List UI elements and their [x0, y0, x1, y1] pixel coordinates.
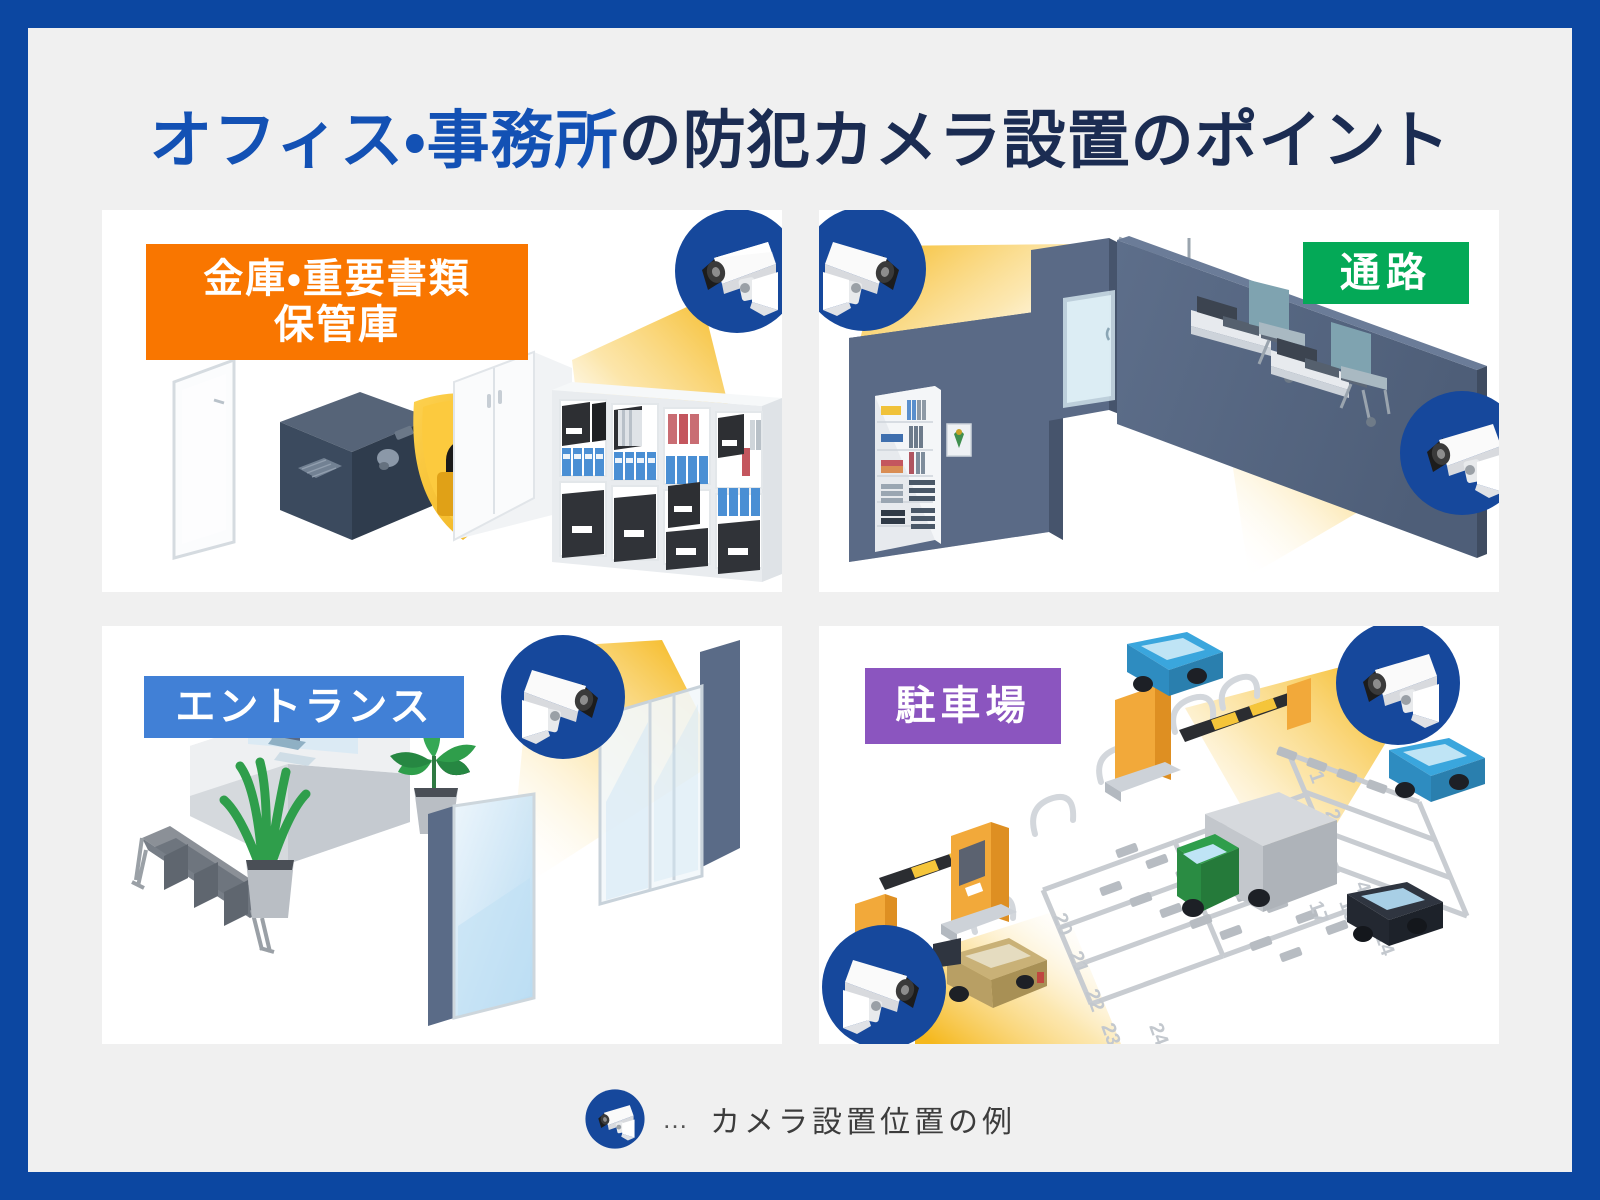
parking-number-24: 24 [1144, 1020, 1173, 1044]
glass-door [174, 360, 234, 558]
page-title-accent: オフィス・事務所 [149, 106, 618, 176]
panel-parking[interactable]: 1 2 4 14 16 17 16 19 20 21 22 23 24 [819, 626, 1499, 1044]
legend-camera-badge [584, 1088, 646, 1150]
infographic-frame: オフィス・事務所の防犯カメラ設置のポイント [28, 28, 1572, 1172]
safe-box [280, 392, 432, 540]
delivery-truck [1177, 792, 1337, 917]
camera-badge-corridor-right[interactable] [1397, 388, 1499, 518]
page-title: オフィス・事務所の防犯カメラ設置のポイント [28, 90, 1572, 181]
tag-safe-line1: 金庫・重要書類 [203, 256, 471, 302]
page-title-rest: の防犯カメラ設置のポイント [619, 106, 1451, 176]
glass-partition [428, 794, 534, 1026]
tag-corridor: 通路 [1303, 242, 1469, 304]
panel-corridor[interactable]: 通路 [819, 210, 1499, 592]
camera-badge-safe[interactable] [672, 210, 782, 336]
legend: … カメラ設置位置の例 [28, 1088, 1572, 1150]
tag-parking: 駐車場 [865, 668, 1061, 744]
car-dark-parked [1347, 882, 1443, 946]
ticket-machine [941, 822, 1017, 944]
camera-badge-parking-upper[interactable] [1333, 626, 1463, 748]
corridor-bookshelf [875, 386, 941, 552]
camera-badge-entrance[interactable] [498, 632, 628, 762]
document-shelf [552, 382, 782, 582]
tag-safe-line2: 保管庫 [203, 302, 471, 348]
legend-dots: … [662, 1104, 690, 1135]
camera-badge-corridor-left[interactable] [819, 210, 929, 334]
panel-safe-storage[interactable]: 金庫・重要書類 保管庫 [102, 210, 782, 592]
tag-entrance: エントランス [144, 676, 464, 738]
legend-label: カメラ設置位置の例 [710, 1097, 1016, 1141]
paper-stack [618, 410, 642, 446]
panel-entrance[interactable]: エントランス [102, 626, 782, 1044]
camera-badge-parking-lower[interactable] [819, 922, 949, 1044]
tag-safe-storage: 金庫・重要書類 保管庫 [146, 244, 528, 360]
car-blue-entering [1127, 632, 1223, 696]
